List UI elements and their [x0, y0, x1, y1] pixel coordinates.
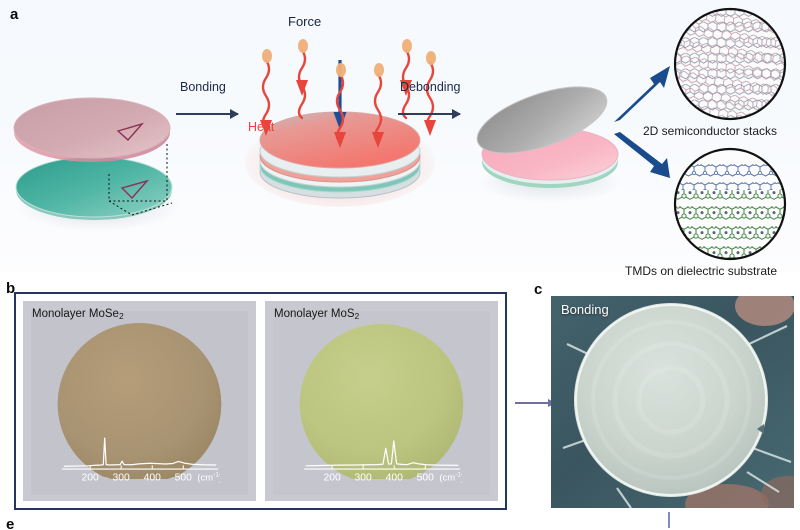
panel-letter-a: a — [10, 6, 18, 23]
wafer-pair-before-bonding — [6, 48, 196, 248]
inset-2d-semiconductor-stacks — [672, 6, 788, 122]
arrow-c-downward — [668, 512, 670, 528]
xtick-300: 300 — [112, 472, 130, 483]
xtick-500: 500 — [416, 472, 434, 483]
arrow-b-to-c — [515, 402, 555, 404]
raman-spectrum-mos2: 200 300 400 500 (cm-1) — [302, 426, 462, 484]
arrow-bonding — [176, 113, 238, 115]
axis-unit-label-mose2: (cm-1) — [197, 471, 220, 482]
inset-caption-2d-stacks: 2D semiconductor stacks — [643, 124, 777, 138]
arrow-debonding — [398, 113, 460, 115]
label-force: Force — [288, 14, 321, 29]
debonded-wafer — [462, 70, 637, 205]
panel-b: Monolayer MoSe2 — [14, 292, 507, 510]
xtick-200: 200 — [81, 472, 99, 483]
label-bonding: Bonding — [180, 80, 226, 94]
raman-spectrum-mose2: 200 300 400 500 (cm-1) — [60, 426, 220, 484]
xtick-300: 300 — [354, 472, 372, 483]
xtick-400: 400 — [143, 472, 161, 483]
wafer-photo-title-mose2: Monolayer MoSe2 — [32, 308, 124, 321]
wafer-photo-title-mos2: Monolayer MoS2 — [274, 308, 359, 321]
panel-letter-c: c — [534, 281, 542, 298]
inset-caption-tmds: TMDs on dielectric substrate — [625, 264, 777, 278]
panel-a: a — [0, 0, 800, 272]
wafer-title-subscript: 2 — [355, 311, 360, 321]
wafer-title-text: Monolayer MoS — [274, 308, 355, 320]
wafer-photo-mos2: Monolayer MoS2 — [265, 301, 498, 501]
panel-letter-e: e — [6, 516, 14, 530]
label-heat: Heat — [248, 120, 274, 134]
bonding-photo-image — [551, 296, 794, 508]
inset-tmds-on-dielectric-substrate — [672, 146, 788, 262]
xtick-500: 500 — [174, 472, 192, 483]
xtick-200: 200 — [323, 472, 341, 483]
label-debonding: Debonding — [400, 80, 460, 94]
panel-c-photo-title: Bonding — [561, 302, 609, 317]
xtick-400: 400 — [385, 472, 403, 483]
figure-root: a — [0, 0, 800, 530]
axis-unit-label-mos2: (cm-1) — [439, 471, 462, 482]
wafer-title-subscript: 2 — [119, 311, 124, 321]
wafer-title-text: Monolayer MoSe — [32, 308, 119, 320]
wafer-photo-mose2: Monolayer MoSe2 — [23, 301, 256, 501]
panel-c: Bonding — [551, 296, 794, 508]
